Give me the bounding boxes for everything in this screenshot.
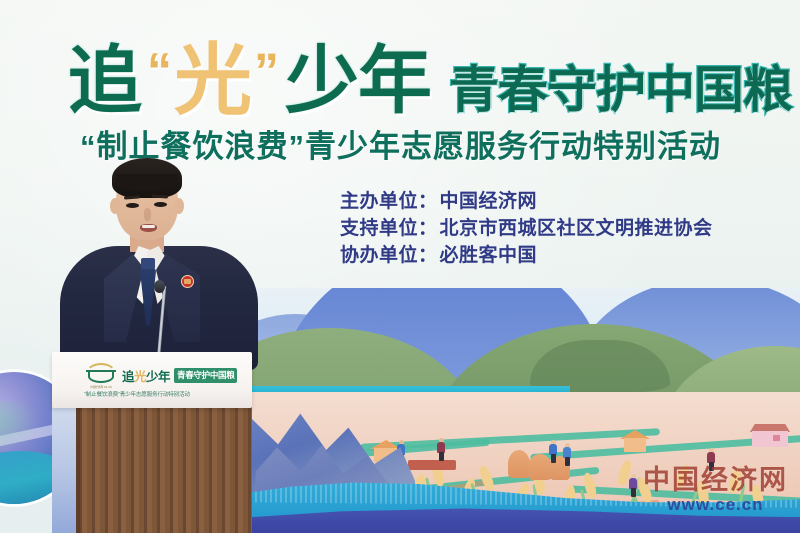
rice-bowl-sun-logo-icon: 中国经济网 CE.CN [84,362,118,388]
organizer-value-host: 中国经济网 [440,191,538,212]
speaker-nose [144,208,151,221]
figure-legs [565,457,570,466]
mural-haystack [508,450,530,478]
mural-hut [620,430,650,454]
organizer-row-host: 主办单位：中国经济网 [340,188,713,215]
speaker-hair [112,158,182,198]
event-headline: 追 “ 光 ” 少年 青春守护中国粮 [68,22,792,118]
organizer-row-support: 支持单位：北京市西城区社区文明推进协会 [340,215,713,242]
speaker-eye-left [126,203,139,208]
organizer-list: 主办单位：中国经济网 支持单位：北京市西城区社区文明推进协会 协办单位：必胜客中… [340,188,713,269]
speaker-eye-right [154,202,167,207]
podium-title-glow: 光 [134,370,146,384]
speaker-mouth [140,224,157,232]
house-window [773,435,780,441]
podium-sign-row: 中国经济网 CE.CN 追光少年 青春守护中国粮 [84,362,244,388]
mural-farmer-figure [628,474,638,498]
headline-part3: 青春守护中国粮 [449,65,792,115]
mural-farmer-figure [548,440,558,464]
organizer-value-coorg: 必胜客中国 [440,245,538,266]
mural-house [750,424,790,450]
figure-legs [439,452,444,461]
organizer-label-support: 支持单位： [340,218,438,239]
screenshot-root: 追 “ 光 ” 少年 青春守护中国粮 “制止餐饮浪费”青少年志愿服务行动特别活动… [0,0,800,533]
podium-title-part1: 追 [122,370,134,384]
speaker-ear-left [110,198,120,214]
headline-glow-char: 光 [174,44,252,118]
headline-part1: 追 [68,44,141,118]
logo-bowl-shape [88,370,114,383]
organizer-row-coorg: 协办单位：必胜客中国 [340,242,713,269]
logo-caption: 中国经济网 CE.CN [84,385,118,389]
podium: 中国经济网 CE.CN 追光少年 青春守护中国粮 “制止餐饮浪费”青少年志愿服务… [52,352,252,533]
podium-title: 追光少年 [122,366,170,385]
headline-part2: 少年 [285,44,431,118]
speaker-ear-right [174,198,184,214]
mural-farmer-figure [436,438,446,462]
organizer-label-host: 主办单位： [340,191,438,212]
house-wall [752,431,787,447]
mural-table [408,460,456,470]
globe-landmass [0,401,40,454]
organizer-value-support: 北京市西城区社区文明推进协会 [440,218,713,239]
lapel-pin-icon [182,276,193,287]
watermark: 中国经济网 www.ce.cn [643,458,788,515]
headline-quote-close: ” [254,46,279,96]
mural-farmer-figure [562,443,572,467]
watermark-url: www.ce.cn [643,495,788,515]
podium-badge: 青春守护中国粮 [174,368,237,383]
podium-title-part2: 少年 [146,370,170,384]
speaker-tie-knot [141,258,155,269]
podium-subtitle: “制止餐饮浪费”青少年志愿服务行动特别活动 [84,390,244,398]
figure-legs [631,488,636,497]
headline-quote-open: “ [147,46,172,96]
organizer-label-coorg: 协办单位： [340,245,438,266]
figure-legs [551,454,556,463]
hut-wall [624,438,647,452]
podium-sign: 中国经济网 CE.CN 追光少年 青春守护中国粮 “制止餐饮浪费”青少年志愿服务… [84,358,244,402]
podium-wood-slats [74,407,252,533]
watermark-name: 中国经济网 [643,458,788,497]
microphone-icon [154,280,165,293]
speaker-figure [64,158,250,368]
